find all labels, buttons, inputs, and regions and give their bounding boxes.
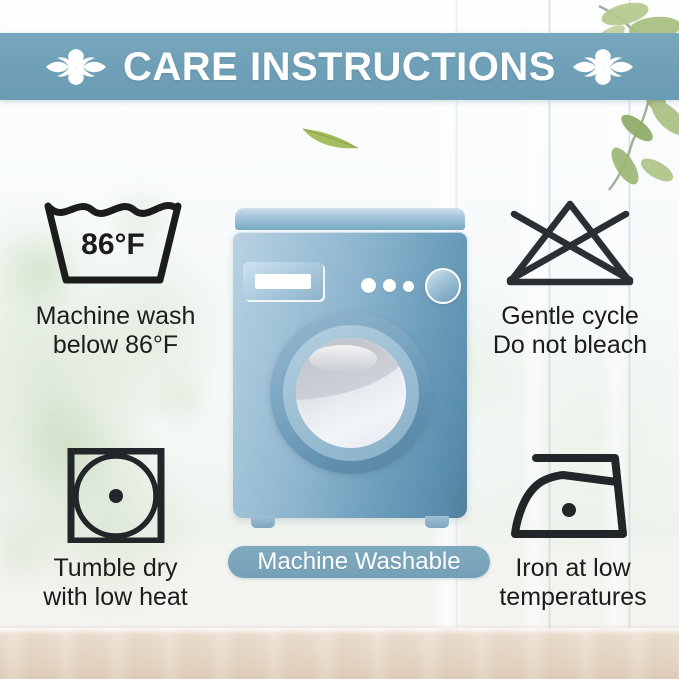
care-item-label: Gentle cycle Do not bleach xyxy=(464,302,676,360)
badge-label: Machine Washable xyxy=(257,550,460,574)
machine-washable-badge: Machine Washable xyxy=(228,546,490,578)
care-item-iron: Iron at low temperatures xyxy=(470,448,676,612)
care-item-label: Machine wash below 86°F xyxy=(8,302,223,360)
control-indicator-dot xyxy=(361,278,376,293)
door-ring xyxy=(283,325,419,461)
care-item-tumble-dry: Tumble dry with low heat xyxy=(8,448,223,612)
fleur-de-lis-icon xyxy=(45,46,107,88)
machine-foot xyxy=(425,516,449,528)
control-indicator-dot xyxy=(403,281,414,292)
glass-highlight xyxy=(309,345,377,374)
falling-leaf-icon xyxy=(300,124,362,150)
page-title: CARE INSTRUCTIONS xyxy=(123,47,556,87)
care-instructions-infographic: CARE INSTRUCTIONS 86°F Machi xyxy=(0,0,679,679)
wash-tub-icon: 86°F xyxy=(8,196,223,296)
control-indicator-dot xyxy=(383,279,396,292)
drawer-slot xyxy=(255,274,311,289)
care-item-label: Iron at low temperatures xyxy=(470,554,676,612)
wooden-table-surface xyxy=(0,628,679,679)
iron-icon xyxy=(470,448,676,548)
machine-door xyxy=(270,312,432,474)
machine-body xyxy=(233,232,467,518)
fleur-de-lis-icon xyxy=(572,46,634,88)
header-banner: CARE INSTRUCTIONS xyxy=(0,33,679,100)
detergent-drawer xyxy=(243,262,323,300)
triangle-crossed-out-icon xyxy=(464,196,676,296)
care-item-label: Tumble dry with low heat xyxy=(8,554,223,612)
washing-machine-illustration xyxy=(233,208,467,528)
wood-grain xyxy=(0,628,679,679)
care-item-do-not-bleach: Gentle cycle Do not bleach xyxy=(464,196,676,360)
dial-knob xyxy=(425,268,461,304)
tumble-dry-square-icon xyxy=(8,448,223,548)
machine-top-panel xyxy=(235,208,465,230)
tub-temperature-text: 86°F xyxy=(81,228,145,261)
care-item-machine-wash: 86°F Machine wash below 86°F xyxy=(8,196,223,360)
door-glass xyxy=(296,338,406,448)
machine-foot xyxy=(251,516,275,528)
